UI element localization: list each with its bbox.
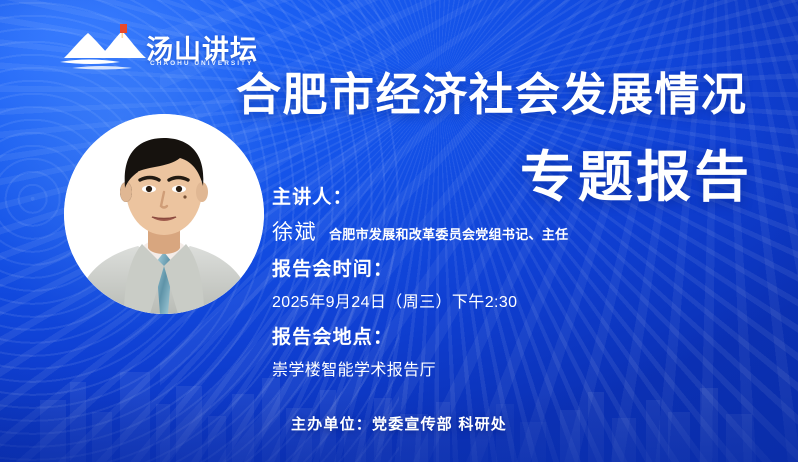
organizer-footer: 主办单位：党委宣传部 科研处 <box>0 413 798 434</box>
speaker-portrait-container <box>64 114 264 314</box>
event-details: 主讲人： 徐斌 合肥市发展和改革委员会党组书记、主任 报告会时间： 2025年9… <box>272 188 712 380</box>
speaker-name: 徐斌 <box>272 216 317 246</box>
time-label: 报告会时间： <box>272 260 712 279</box>
portrait-illustration <box>64 114 264 314</box>
place-value: 崇学楼智能学术报告厅 <box>272 356 712 380</box>
brand-logo: 汤山讲坛 CHAOHU UNIVERSITY <box>58 22 238 78</box>
place-label: 报告会地点： <box>272 328 712 347</box>
speaker-title: 合肥市发展和改革委员会党组书记、主任 <box>329 224 568 243</box>
event-poster: 汤山讲坛 CHAOHU UNIVERSITY <box>0 0 798 462</box>
mountain-lake-logo-icon <box>58 24 150 76</box>
speaker-row: 徐斌 合肥市发展和改革委员会党组书记、主任 <box>272 216 712 246</box>
page-title-line1: 合肥市经济社会发展情况 <box>236 58 748 123</box>
time-value: 2025年9月24日（周三）下午2:30 <box>272 288 712 312</box>
speaker-portrait <box>64 114 264 314</box>
speaker-label: 主讲人： <box>272 188 712 207</box>
